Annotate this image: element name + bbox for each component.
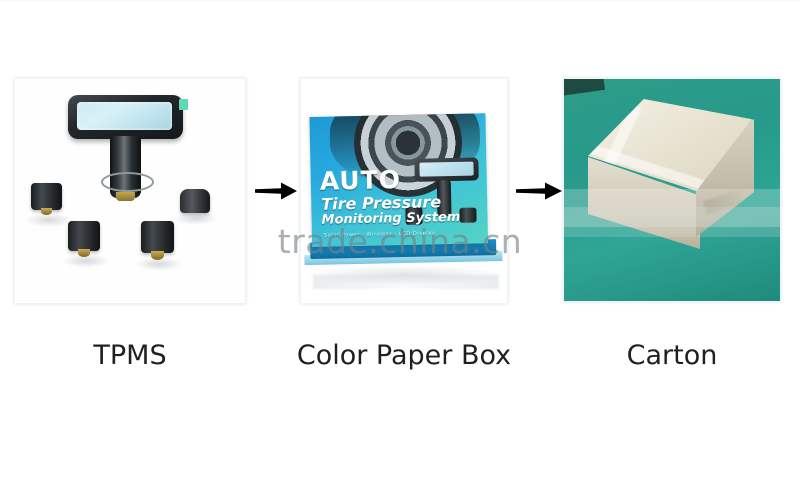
sensor-brass-nut: [41, 208, 52, 215]
box-art-monitor: [414, 157, 478, 181]
panel-row: AUTO Tire Pressure Monitoring System Sol…: [0, 78, 800, 308]
sensor-brass-nut: [78, 249, 90, 257]
retail-box: AUTO Tire Pressure Monitoring System Sol…: [301, 113, 508, 269]
tpms-plug-contact-ring: [101, 172, 154, 192]
panel-tpms[interactable]: [14, 78, 246, 304]
caption-carton: Carton: [563, 340, 781, 371]
tpms-green-tab: [179, 99, 188, 110]
sensor-body: [31, 183, 62, 210]
tpms-lcd-screen: [77, 102, 172, 130]
sensor-shadow: [25, 213, 73, 227]
caption-row: TPMS Color Paper Box Carton: [0, 340, 800, 382]
box-headline-line2: Monitoring System: [321, 210, 460, 228]
tpms-device-photo: [15, 79, 245, 303]
panel-color-paper-box[interactable]: AUTO Tire Pressure Monitoring System Sol…: [300, 78, 508, 304]
tpms-monitor: [68, 95, 183, 139]
sensor-body: [68, 221, 100, 251]
caption-color-paper-box: Color Paper Box: [288, 340, 520, 371]
box-art-monitor-lcd: [419, 162, 473, 177]
panel-carton[interactable]: [563, 78, 781, 302]
arrow-tpms-to-box: [255, 178, 297, 204]
figure-canvas: AUTO Tire Pressure Monitoring System Sol…: [0, 0, 800, 495]
shipping-carton: [588, 99, 758, 254]
retail-box-photo: AUTO Tire Pressure Monitoring System Sol…: [301, 79, 507, 303]
sensor-body: [141, 221, 174, 253]
shipping-carton-photo: [564, 79, 780, 301]
box-front-artwork: AUTO Tire Pressure Monitoring System Sol…: [309, 113, 488, 247]
sensor-brass-nut: [151, 251, 164, 260]
tpms-plug-tip: [116, 192, 135, 201]
box-brand-text: AUTO: [319, 165, 401, 196]
top-hairline: [0, 0, 800, 2]
sensor-body: [180, 189, 210, 213]
box-feature-strip: Solar Power · Wireless · LCD Display: [324, 230, 436, 238]
caption-tpms: TPMS: [14, 340, 246, 371]
arrow-box-to-carton: [516, 178, 562, 204]
box-reflection: [313, 275, 499, 289]
sensor-shadow: [174, 212, 218, 225]
table-edge: [563, 78, 605, 96]
box-art-sensor: [459, 208, 476, 223]
